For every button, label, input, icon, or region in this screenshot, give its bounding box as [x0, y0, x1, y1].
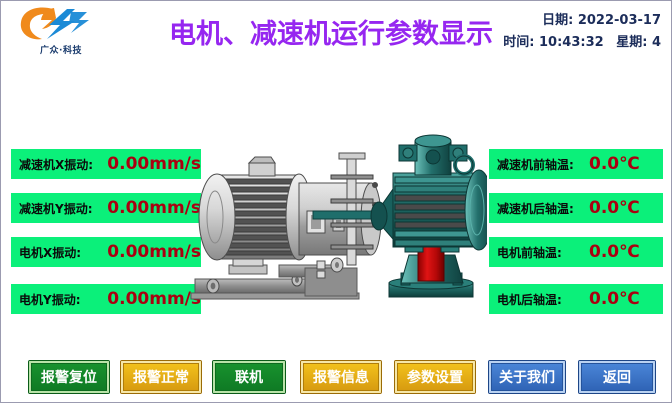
- panel-value: 0.0℃: [589, 242, 640, 262]
- time-label: 时间:: [503, 35, 534, 50]
- panel-label: 减速机Y振动:: [19, 200, 105, 217]
- panel-gearbox-y-vibration: 减速机Y振动: 0.00mm/s: [11, 193, 201, 223]
- button-back[interactable]: 返回: [579, 361, 655, 393]
- date-label: 日期:: [542, 13, 573, 28]
- header-bar: 广众·科技 电机、减速机运行参数显示 日期: 2022-03-17 时间: 10…: [1, 1, 671, 59]
- button-alarm-reset[interactable]: 报警复位: [29, 361, 109, 393]
- time-display: 时间: 10:43:32 星期: 4: [503, 31, 661, 50]
- button-label: 报警正常: [123, 363, 199, 391]
- panel-gearbox-rear-bearing-temp: 减速机后轴温: 0.0℃: [489, 193, 663, 223]
- panel-label: 电机X振动:: [19, 244, 105, 261]
- company-logo: 广众·科技: [9, 3, 101, 57]
- date-display: 日期: 2022-03-17: [542, 9, 661, 28]
- panel-motor-front-bearing-temp: 电机前轴温: 0.0℃: [489, 237, 663, 267]
- panel-gearbox-front-bearing-temp: 减速机前轴温: 0.0℃: [489, 149, 663, 179]
- button-online[interactable]: 联机: [213, 361, 285, 393]
- panel-motor-y-vibration: 电机Y振动: 0.00mm/s: [11, 284, 201, 314]
- panel-label: 减速机后轴温:: [497, 200, 585, 217]
- date-value: 2022-03-17: [578, 13, 661, 28]
- page-title: 电机、减速机运行参数显示: [141, 11, 521, 51]
- button-label: 联机: [215, 363, 283, 391]
- panel-label: 电机Y振动:: [19, 291, 105, 308]
- time-value: 10:43:32: [539, 35, 604, 50]
- motor-gearbox-pump-diagram: [187, 113, 487, 309]
- company-logo-text: 广众·科技: [19, 43, 103, 56]
- button-alarm-normal[interactable]: 报警正常: [121, 361, 201, 393]
- button-bar: 报警复位 报警正常 联机 报警信息 参数设置 关于我们 返回: [1, 353, 671, 403]
- panel-motor-rear-bearing-temp: 电机后轴温: 0.0℃: [489, 284, 663, 314]
- panel-label: 电机前轴温:: [497, 244, 585, 261]
- button-alarm-info[interactable]: 报警信息: [301, 361, 381, 393]
- panel-value: 0.0℃: [589, 154, 640, 174]
- button-label: 报警复位: [31, 363, 107, 391]
- button-about-us[interactable]: 关于我们: [489, 361, 565, 393]
- button-label: 关于我们: [491, 363, 563, 391]
- weekday-label: 星期:: [616, 35, 647, 50]
- button-label: 参数设置: [397, 363, 473, 391]
- panel-gearbox-x-vibration: 减速机X振动: 0.00mm/s: [11, 149, 201, 179]
- button-label: 返回: [581, 363, 653, 391]
- guangzhong-swoosh-lightning-icon: [9, 3, 101, 45]
- weekday-value: 4: [652, 35, 661, 50]
- panel-label: 电机后轴温:: [497, 291, 585, 308]
- panel-label: 减速机X振动:: [19, 156, 105, 173]
- button-label: 报警信息: [303, 363, 379, 391]
- panel-label: 减速机前轴温:: [497, 156, 585, 173]
- panel-motor-x-vibration: 电机X振动: 0.00mm/s: [11, 237, 201, 267]
- panel-value: 0.0℃: [589, 198, 640, 218]
- panel-value: 0.0℃: [589, 289, 640, 309]
- button-parameter-settings[interactable]: 参数设置: [395, 361, 475, 393]
- hmi-screen: 广众·科技 电机、减速机运行参数显示 日期: 2022-03-17 时间: 10…: [0, 0, 672, 403]
